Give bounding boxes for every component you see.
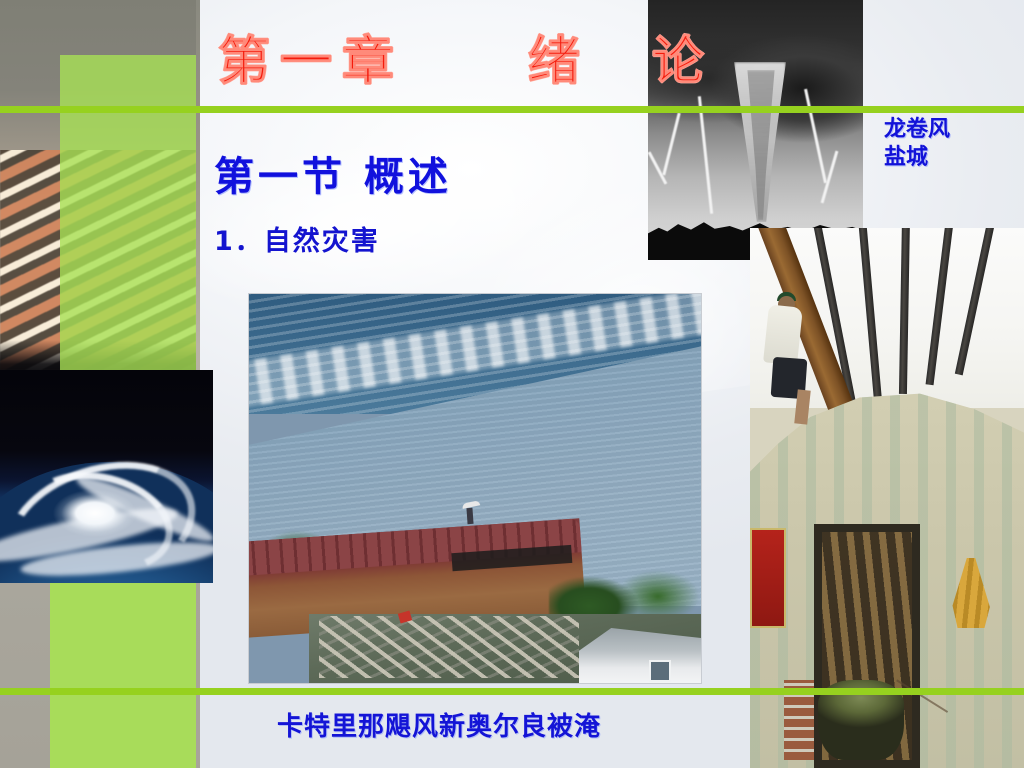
red-door-couplet <box>750 528 786 628</box>
flood-barge-photo <box>248 293 702 684</box>
green-divider-bottom <box>0 688 1024 695</box>
house-window <box>649 660 671 682</box>
bullet-item-natural-disaster: 1．自然灾害 <box>214 219 380 258</box>
person-on-barge <box>466 508 473 524</box>
tornado-label-line-1: 龙卷风 <box>884 116 950 144</box>
man-shirt <box>763 304 803 365</box>
presentation-slide: 第一章 绪 论 第一节 概述 1．自然灾害 龙卷风 盐城 <box>0 0 1024 768</box>
hurricane-satellite-photo <box>0 370 213 583</box>
green-divider-top <box>0 106 1024 113</box>
section-heading: 第一节 概述 <box>214 144 452 202</box>
green-accent-column-upper <box>60 55 196 370</box>
green-accent-column-lower <box>50 583 196 768</box>
hurricane-eye <box>18 478 178 558</box>
flood-photo-caption: 卡特里那飓风新奥尔良被淹 <box>277 706 601 743</box>
tornado-photo-label: 龙卷风 盐城 <box>884 116 950 172</box>
tornado-label-line-2: 盐城 <box>884 144 950 172</box>
slide-title: 第一章 绪 论 <box>218 36 658 88</box>
damaged-house-photo: 新京报 thebeijingnews.com <box>750 228 1024 768</box>
flood-debris-planks <box>319 616 579 678</box>
